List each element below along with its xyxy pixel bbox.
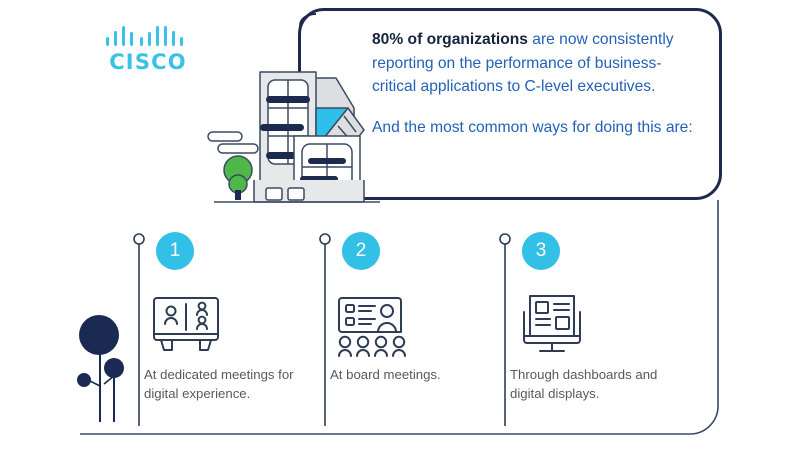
callout-paragraph-2: And the most common ways for doing this … [372, 116, 702, 140]
board-presentation-icon [330, 290, 414, 362]
navy-tree-icon [62, 310, 142, 430]
callout-paragraph-1: 80% of organizations are now consistentl… [372, 28, 702, 99]
step-number-badge-2[interactable]: 2 [342, 232, 380, 270]
callout-text-block: 80% of organizations are now consistentl… [372, 28, 702, 139]
city-buildings-icon [204, 12, 384, 212]
step-caption-1: At dedicated meetings for digital experi… [144, 366, 324, 403]
step-caption-2: At board meetings. [330, 366, 510, 385]
step-number-badge-3[interactable]: 3 [522, 232, 560, 270]
video-meeting-screen-icon [144, 290, 228, 362]
step-caption-3: Through dashboards and digital displays. [510, 366, 690, 403]
infographic-canvas: CISCO 80% of organizations are now consi… [0, 0, 799, 450]
callout-stat-bold: 80% of organizations [372, 31, 528, 48]
cisco-logo-icon: CISCO [100, 26, 196, 74]
cisco-logo-bars [100, 26, 196, 46]
cisco-wordmark: CISCO [100, 51, 196, 73]
dashboard-monitor-icon [510, 290, 594, 362]
step-number-badge-1[interactable]: 1 [156, 232, 194, 270]
